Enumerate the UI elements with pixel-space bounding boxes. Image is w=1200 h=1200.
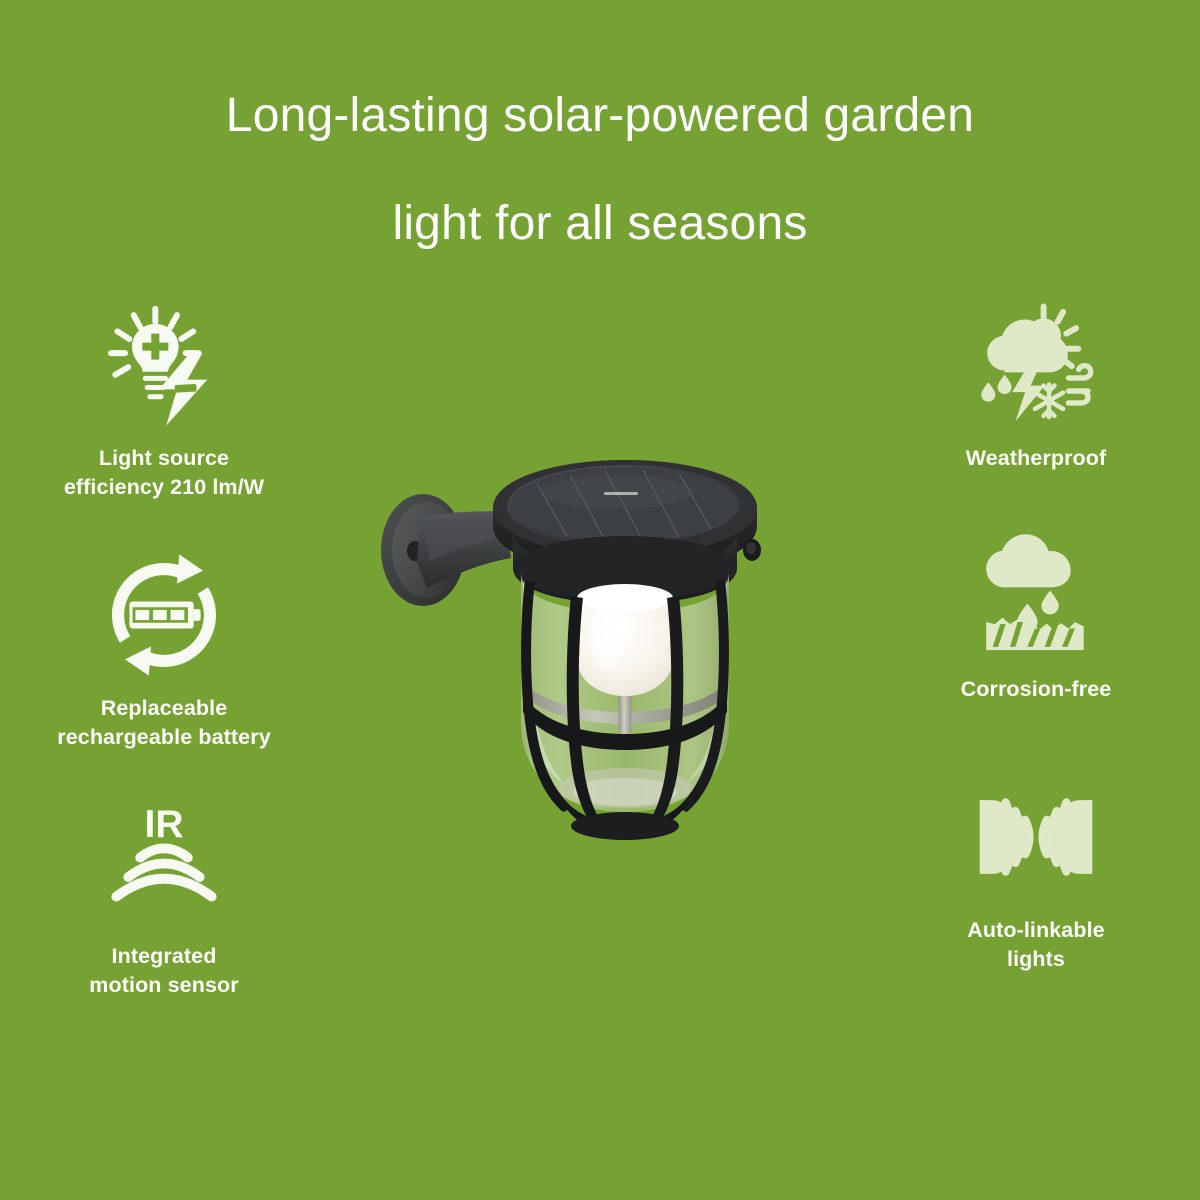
feature-motion-sensor: IR Integrated motion sensor — [14, 798, 314, 1000]
feature-label: Light source efficiency 210 lm/W — [64, 444, 264, 502]
feature-label: Weatherproof — [966, 444, 1107, 473]
ir-label: IR — [145, 803, 184, 846]
feature-light-source-efficiency: Light source efficiency 210 lm/W — [14, 300, 314, 502]
feature-corrosion-free: Corrosion-free — [886, 531, 1186, 704]
feature-list-left: Light source efficiency 210 lm/W — [14, 300, 314, 1000]
ir-motion-sensor-icon: IR — [99, 798, 229, 928]
feature-list-right: Weatherproof — [886, 300, 1186, 974]
feature-label: Auto-linkable lights — [967, 916, 1104, 974]
auto-linkable-signal-icon — [971, 772, 1101, 902]
feature-label: Replaceable rechargeable battery — [57, 694, 271, 752]
weather-cloud-sun-lightning-snow-wind-icon — [971, 300, 1101, 430]
cloud-raindrops-eroded-surface-icon — [971, 531, 1101, 661]
feature-label: Integrated motion sensor — [89, 942, 238, 1000]
page-title: Long-lasting solar-powered garden light … — [0, 62, 1200, 278]
product-image-solar-garden-lantern — [355, 440, 875, 900]
bulb-plus-lightning-minus-icon — [99, 300, 229, 430]
headline-line-1: Long-lasting solar-powered garden — [90, 62, 1110, 170]
feature-auto-linkable: Auto-linkable lights — [886, 772, 1186, 974]
panel-marker — [604, 492, 638, 495]
feature-rechargeable-battery: Replaceable rechargeable battery — [14, 550, 314, 752]
cage-base — [571, 812, 679, 840]
recycle-battery-icon — [99, 550, 229, 680]
feature-label: Corrosion-free — [961, 675, 1112, 704]
headline-line-2: light for all seasons — [90, 170, 1110, 278]
feature-weatherproof: Weatherproof — [886, 300, 1186, 473]
